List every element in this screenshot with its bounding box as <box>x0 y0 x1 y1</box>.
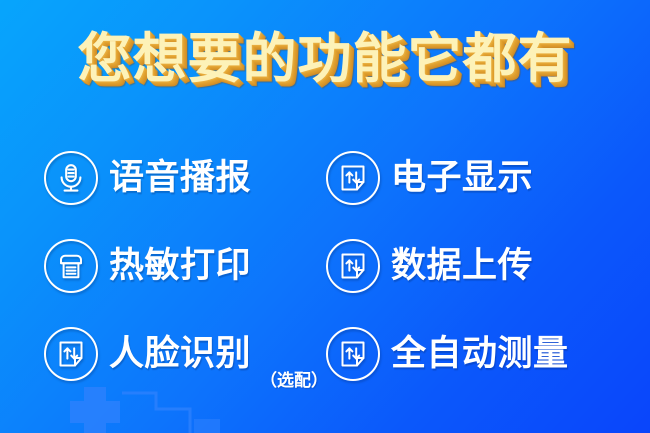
feature-label: 数据上传 <box>391 246 533 286</box>
page-title: 您想要的功能它都有 <box>78 28 573 90</box>
feature-item-data-upload[interactable]: 数据上传 <box>326 222 606 310</box>
microphone-icon <box>44 151 98 205</box>
document-transfer-icon <box>326 327 380 381</box>
feature-item-electronic-display[interactable]: 电子显示 <box>326 134 606 222</box>
feature-label: 电子显示 <box>391 158 533 198</box>
feature-list: 语音播报 电子显示 <box>0 134 650 398</box>
feature-item-thermal-printing[interactable]: 热敏打印 <box>44 222 314 310</box>
feature-item-voice-broadcast[interactable]: 语音播报 <box>44 134 314 222</box>
feature-label: 语音播报 <box>109 158 251 198</box>
feature-optional-note: （选配） <box>260 366 328 398</box>
document-transfer-icon <box>44 327 98 381</box>
feature-label: 全自动测量 <box>391 334 569 374</box>
feature-item-face-recognition[interactable]: 人脸识别 （选配） <box>44 310 314 398</box>
promo-poster: 您想要的功能它都有 语音播报 <box>0 0 650 433</box>
feature-label: 热敏打印 <box>109 246 251 286</box>
feature-item-auto-measurement[interactable]: 全自动测量 <box>326 310 606 398</box>
document-transfer-icon <box>326 239 380 293</box>
document-transfer-icon <box>326 151 380 205</box>
headline-container: 您想要的功能它都有 <box>0 28 650 90</box>
printer-icon <box>44 239 98 293</box>
feature-label: 人脸识别 <box>109 334 251 374</box>
